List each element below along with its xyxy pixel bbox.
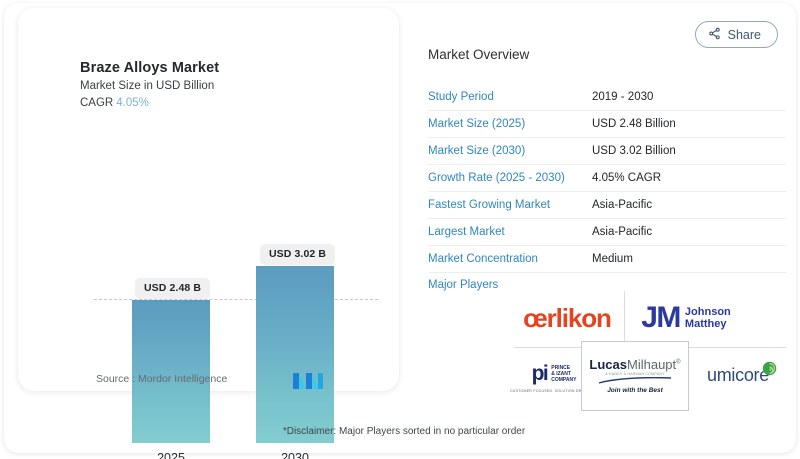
row-key: Market Concentration bbox=[428, 253, 592, 265]
row-value: USD 2.48 Billion bbox=[592, 118, 676, 130]
disclaimer-text: *Disclaimer: Major Players sorted in no … bbox=[4, 426, 800, 437]
bar-chart-plot: USD 2.48 B USD 3.02 B 2025 2030 bbox=[32, 118, 398, 348]
pi-line-2: & IZANT bbox=[551, 371, 571, 377]
pi-line-1: PRINCE bbox=[551, 365, 570, 371]
row-key: Study Period bbox=[428, 91, 592, 103]
row-key: Largest Market bbox=[428, 226, 592, 238]
table-row: Market Concentration Medium bbox=[428, 246, 786, 273]
summary-card: Share Braze Alloys Market Market Size in… bbox=[4, 3, 796, 453]
table-row: Market Size (2025) USD 2.48 Billion bbox=[428, 111, 786, 138]
row-key: Market Size (2030) bbox=[428, 145, 592, 157]
row-key: Growth Rate (2025 - 2030) bbox=[428, 172, 592, 184]
share-icon bbox=[708, 27, 721, 43]
oerlikon-logo-text: œrlikon bbox=[523, 303, 611, 334]
row-key: Fastest Growing Market bbox=[428, 199, 592, 211]
jm-line-2: Matthey bbox=[685, 318, 727, 330]
table-row: Fastest Growing Market Asia-Pacific bbox=[428, 192, 786, 219]
market-summary-page: Share Braze Alloys Market Market Size in… bbox=[0, 0, 800, 459]
share-button-label: Share bbox=[728, 28, 761, 42]
major-players-label: Major Players bbox=[428, 279, 592, 291]
johnson-matthey-logo: JM Johnson Matthey bbox=[630, 295, 742, 341]
row-value: USD 3.02 Billion bbox=[592, 145, 676, 157]
chart-source: Source : Mordor Intelligence bbox=[96, 373, 227, 385]
row-value: Asia-Pacific bbox=[592, 199, 652, 211]
prince-izant-name: PRINCE & IZANT COMPANY bbox=[551, 365, 576, 384]
chart-cagr-label: CAGR bbox=[80, 97, 113, 109]
bar-value-label-2025: USD 2.48 B bbox=[135, 278, 210, 299]
row-value: 4.05% CAGR bbox=[592, 172, 661, 184]
table-row: Growth Rate (2025 - 2030) 4.05% CAGR bbox=[428, 165, 786, 192]
bar-value-label-2030: USD 3.02 B bbox=[260, 244, 335, 265]
mordor-intelligence-logo-icon bbox=[292, 369, 324, 391]
grid-divider-vertical bbox=[624, 291, 625, 347]
umicore-logo-text: umicore bbox=[707, 365, 769, 386]
chart-cagr: CAGR4.05% bbox=[80, 97, 149, 109]
lucas-milhaupt-wordmark: LucasMilhaupt® bbox=[589, 358, 680, 371]
registered-mark-icon: ® bbox=[676, 360, 680, 366]
table-row: Market Size (2030) USD 3.02 Billion bbox=[428, 138, 786, 165]
prince-izant-monogram: pi bbox=[532, 362, 548, 386]
jm-line-1: Johnson bbox=[685, 306, 731, 318]
oerlikon-logo: œrlikon bbox=[510, 295, 624, 341]
johnson-matthey-name: Johnson Matthey bbox=[685, 306, 731, 331]
major-players-row: Major Players bbox=[428, 273, 786, 291]
share-button[interactable]: Share bbox=[695, 21, 778, 48]
row-value: Medium bbox=[592, 253, 633, 265]
table-row: Largest Market Asia-Pacific bbox=[428, 219, 786, 246]
chart-card: Braze Alloys Market Market Size in USD B… bbox=[18, 8, 399, 391]
table-row: Study Period 2019 - 2030 bbox=[428, 84, 786, 111]
lucas-bold-part: Lucas bbox=[589, 357, 627, 372]
x-axis-tick-2030: 2030 bbox=[256, 451, 334, 459]
x-axis-tick-2025: 2025 bbox=[132, 451, 210, 459]
lucas-light-part: Milhaupt bbox=[627, 357, 676, 372]
lucas-swoosh-icon bbox=[598, 377, 672, 384]
row-value: Asia-Pacific bbox=[592, 226, 652, 238]
major-players-logo-grid: œrlikon JM Johnson Matthey pi PRINCE & I… bbox=[504, 291, 796, 409]
lucas-milhaupt-tagline: Join with the Best bbox=[607, 387, 663, 394]
prince-izant-tagline: CUSTOMER FOCUSED. SOLUTION DRIVEN. bbox=[510, 389, 592, 393]
row-key: Market Size (2025) bbox=[428, 118, 592, 130]
chart-title: Braze Alloys Market bbox=[80, 60, 219, 76]
market-overview-panel: Market Overview Study Period 2019 - 2030… bbox=[428, 47, 786, 291]
umicore-logo: umicore bbox=[692, 353, 792, 397]
umicore-mark-icon bbox=[762, 361, 777, 376]
lucas-milhaupt-subtitle: A HANDY & HARMAN COMPANY bbox=[605, 372, 664, 376]
bar-2030[interactable] bbox=[256, 266, 334, 443]
johnson-matthey-monogram: JM bbox=[641, 303, 680, 333]
chart-subtitle: Market Size in USD Billion bbox=[80, 80, 214, 92]
market-overview-title: Market Overview bbox=[428, 47, 786, 62]
pi-line-3: COMPANY bbox=[551, 377, 576, 383]
bar-2025[interactable] bbox=[132, 300, 210, 443]
lucas-milhaupt-logo: LucasMilhaupt® A HANDY & HARMAN COMPANY … bbox=[581, 341, 689, 411]
row-value: 2019 - 2030 bbox=[592, 91, 653, 103]
chart-cagr-value: 4.05% bbox=[116, 97, 149, 109]
